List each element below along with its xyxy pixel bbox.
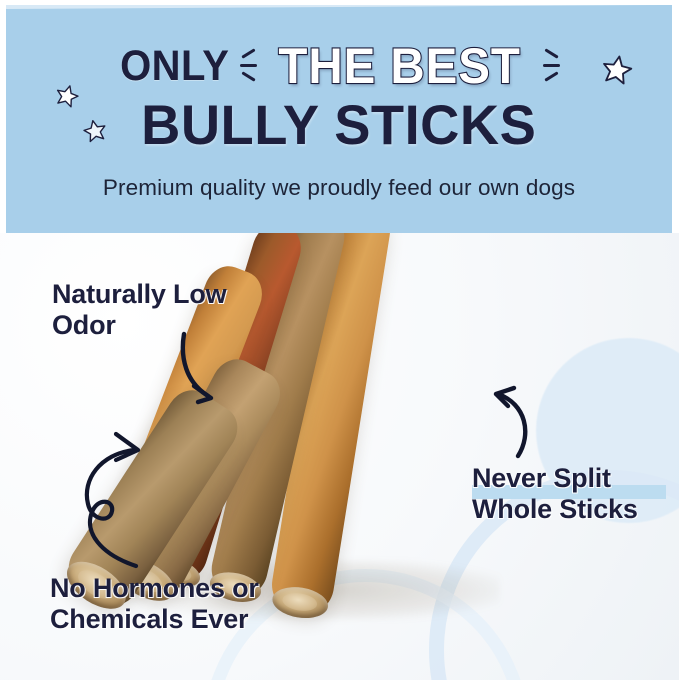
annotation-never-split-whole-sticks: Never Split Whole Sticks [472, 463, 638, 526]
annotation-line-2: Whole Sticks [472, 494, 638, 525]
headline-word-only: ONLY [120, 45, 229, 88]
headline-word-the-best: THE BEST [279, 41, 521, 91]
looping-curved-arrow-up-right-icon [78, 428, 178, 573]
headline-line-1: ONLY THE BEST [6, 41, 672, 91]
headline-bully-sticks: BULLY STICKS [141, 97, 536, 153]
curved-arrow-down-right-icon [178, 330, 248, 410]
annotation-line-1: No Hormones or [50, 573, 259, 604]
sparkle-rays-icon [238, 44, 264, 88]
curved-arrow-up-left-icon [474, 382, 554, 462]
headline-line-2: BULLY STICKS [6, 97, 672, 153]
header-subtitle: Premium quality we proudly feed our own … [6, 175, 672, 201]
header-banner: ONLY THE BEST BULLY STICKS Premium quali… [6, 5, 672, 233]
annotation-line-1: Never Split [472, 463, 638, 494]
annotation-line-1: Naturally Low [52, 279, 226, 310]
sparkle-rays-icon [536, 44, 562, 88]
annotation-no-hormones-or-chemicals-ever: No Hormones or Chemicals Ever [50, 573, 259, 636]
product-infographic: ONLY THE BEST BULLY STICKS Premium quali… [0, 0, 679, 680]
annotation-line-2: Chemicals Ever [50, 604, 259, 635]
